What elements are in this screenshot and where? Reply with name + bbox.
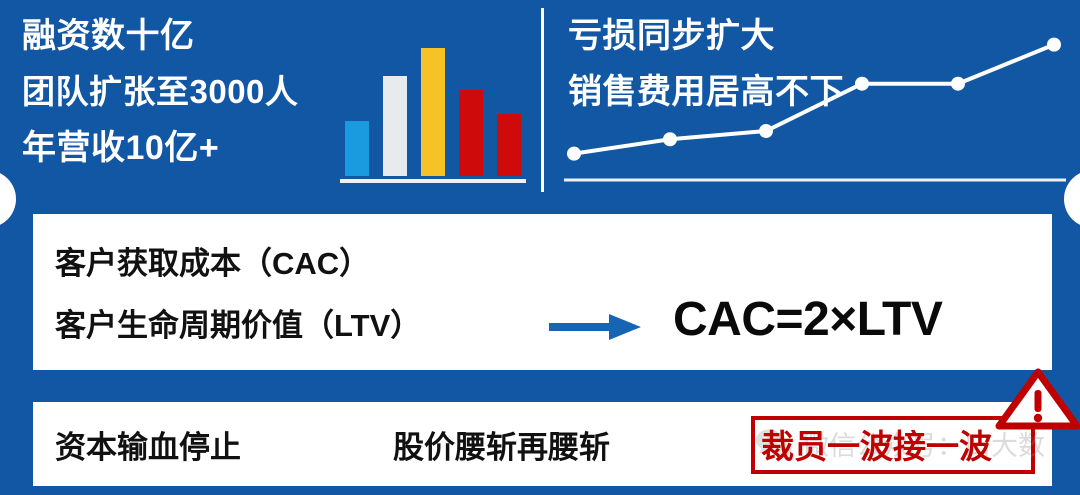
line-point-2	[663, 132, 677, 146]
bar-chart-plot-area	[338, 30, 528, 176]
top-left-headline-group: 融资数十亿 团队扩张至3000人 年营收10亿+	[22, 8, 342, 176]
line-point-5	[951, 77, 965, 91]
bar-chart-axis-line	[340, 179, 526, 183]
bar-2	[383, 76, 407, 176]
line-series-path	[574, 45, 1054, 154]
ltv-label: 客户生命周期价值（LTV）	[55, 300, 421, 345]
bottom-summary-card: 微信公众号：口大数 资本输血停止 股价腰斩再腰斩 裁员一波接一波	[28, 402, 1052, 486]
headline-left-line-3: 年营收10亿+	[22, 120, 342, 176]
bottom-item-stock: 股价腰斩再腰斩	[393, 422, 610, 467]
headline-left-line-1: 融资数十亿	[22, 8, 342, 64]
bottom-item-capital: 资本输血停止	[55, 422, 241, 467]
bar-4	[459, 90, 483, 176]
line-point-1	[567, 147, 581, 161]
bar-3	[421, 48, 445, 176]
cac-formula: CAC=2×LTV	[673, 292, 942, 347]
cac-ltv-card: 客户获取成本（CAC） 客户生命周期价值（LTV） CAC=2×LTV	[28, 214, 1052, 370]
line-chart-svg	[560, 12, 1072, 188]
bar-5	[497, 114, 521, 176]
right-arrow-icon	[549, 314, 641, 340]
bar-chart	[338, 26, 528, 184]
bar-1	[345, 121, 369, 176]
line-chart	[560, 12, 1072, 188]
layoff-alert-text: 裁员一波接一波	[761, 420, 992, 468]
cac-label: 客户获取成本（CAC）	[55, 238, 370, 283]
line-point-6	[1047, 38, 1061, 52]
warning-triangle-icon	[995, 368, 1080, 430]
top-blue-band: 融资数十亿 团队扩张至3000人 年营收10亿+ 亏损同步扩大 销售费用居高不下	[0, 0, 1080, 200]
infographic-root: 融资数十亿 团队扩张至3000人 年营收10亿+ 亏损同步扩大 销售费用居高不下…	[0, 0, 1080, 495]
line-point-3	[759, 124, 773, 138]
headline-left-line-2: 团队扩张至3000人	[22, 64, 342, 120]
line-point-4	[855, 77, 869, 91]
top-panel-divider	[541, 8, 544, 192]
